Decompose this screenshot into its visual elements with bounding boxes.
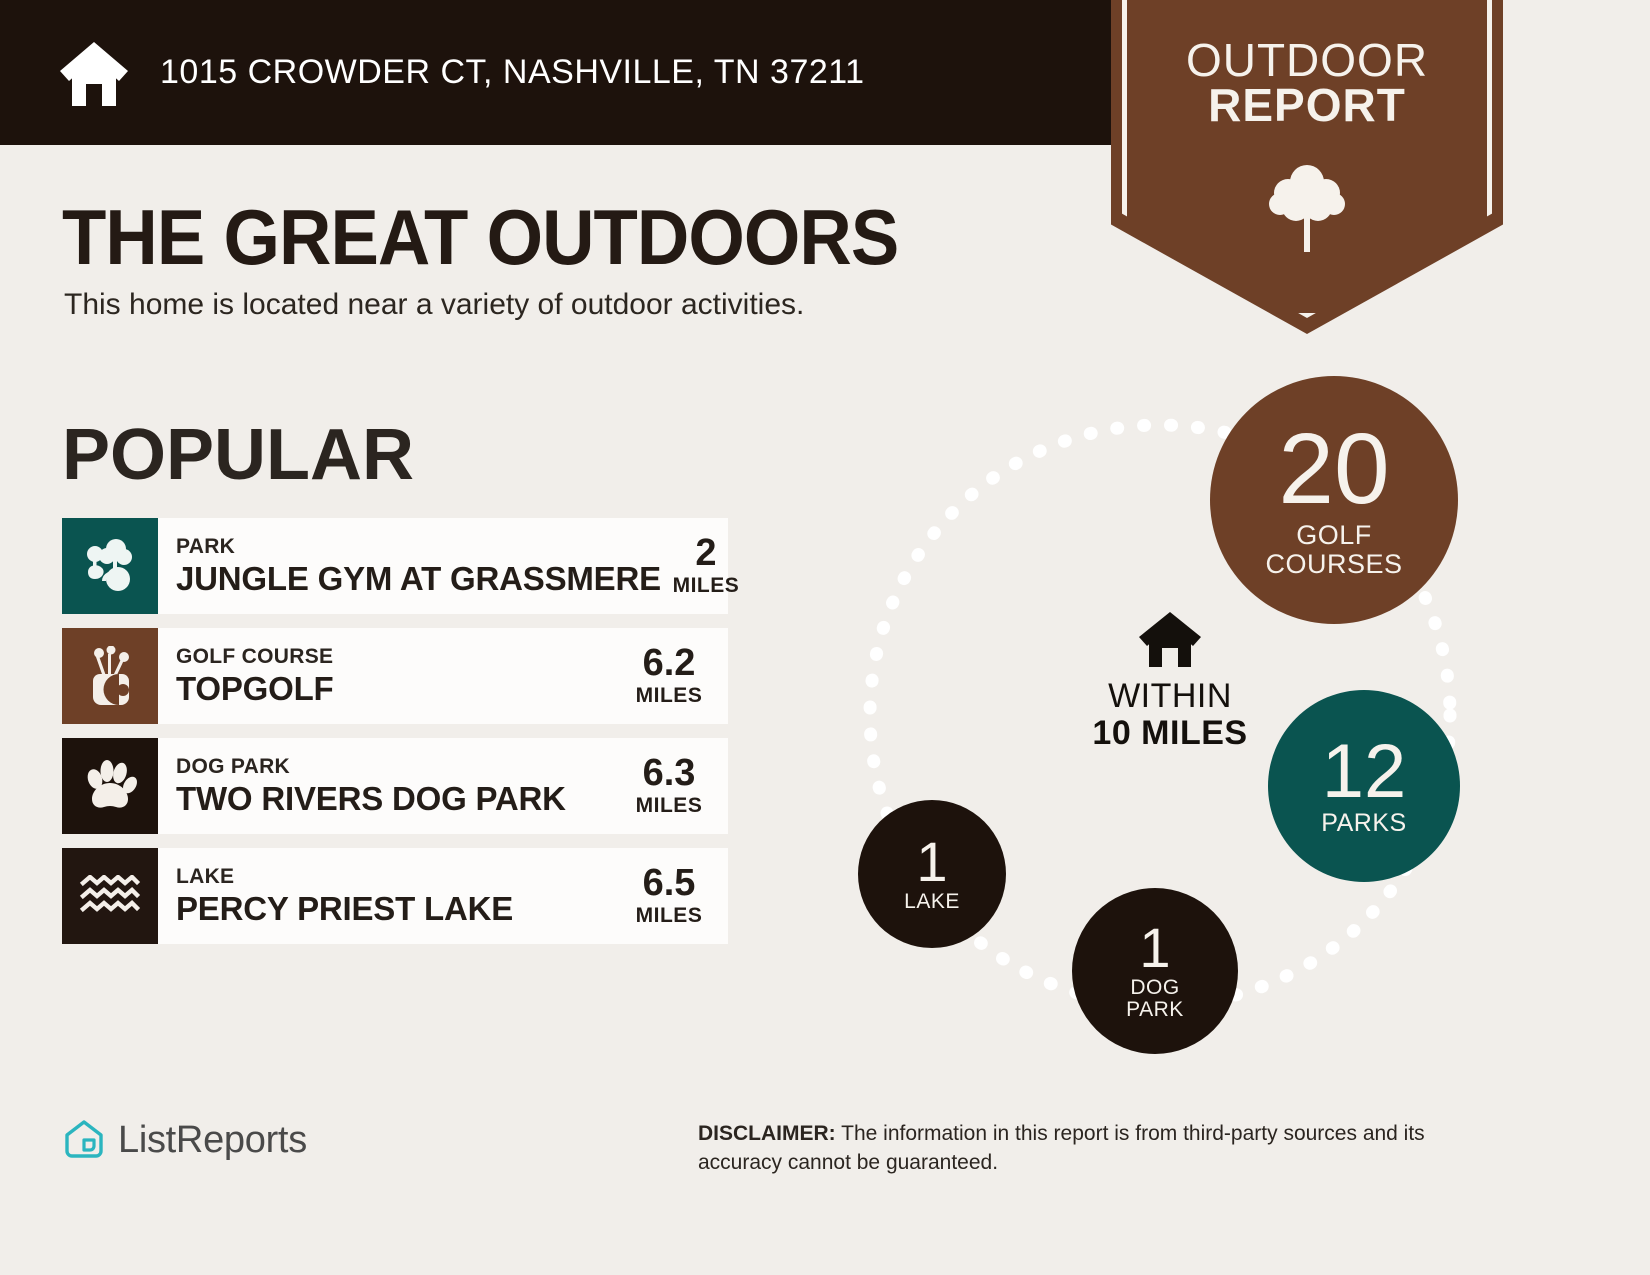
disclaimer-label: DISCLAIMER: <box>698 1122 836 1145</box>
distance-value: 6.2 <box>643 644 696 682</box>
stat-label: PARKS <box>1321 810 1406 836</box>
center-line-2: 10 MILES <box>1030 715 1310 752</box>
stat-label: GOLF COURSES <box>1265 521 1402 578</box>
list-item[interactable]: GOLF COURSE TOPGOLF 6.2 MILES <box>62 628 728 724</box>
stat-circle-lake[interactable]: 1 LAKE <box>858 800 1006 948</box>
list-item-icon-box <box>62 738 158 834</box>
home-icon <box>58 38 130 108</box>
stat-value: 1 <box>916 835 947 888</box>
stat-label-line-2: COURSES <box>1265 550 1402 578</box>
golf-bag-icon <box>83 646 137 706</box>
popular-list: PARK JUNGLE GYM AT GRASSMERE 2 MILES <box>62 518 728 958</box>
list-item-name: PERCY PRIEST LAKE <box>176 890 624 928</box>
distance-unit: MILES <box>636 904 703 928</box>
distance-value: 2 <box>695 534 716 572</box>
header-bar: 1015 CROWDER CT, NASHVILLE, TN 37211 <box>0 0 1195 145</box>
page-title: THE GREAT OUTDOORS <box>62 192 898 283</box>
list-item-category: LAKE <box>176 864 624 889</box>
stat-label-line-2: PARK <box>1126 999 1184 1021</box>
list-item-text: PARK JUNGLE GYM AT GRASSMERE <box>158 518 661 614</box>
list-item-category: PARK <box>176 534 661 559</box>
center-line-1: WITHIN <box>1030 678 1310 715</box>
within-10-miles-diagram: WITHIN 10 MILES 20 GOLF COURSES 12 PARKS… <box>820 360 1520 1060</box>
water-waves-icon <box>79 875 141 917</box>
list-item-text: DOG PARK TWO RIVERS DOG PARK <box>158 738 624 834</box>
list-item-icon-box <box>62 628 158 724</box>
stat-label: LAKE <box>904 891 960 913</box>
stat-circle-golf-courses[interactable]: 20 GOLF COURSES <box>1210 376 1458 624</box>
outdoor-report-page: 1015 CROWDER CT, NASHVILLE, TN 37211 OUT… <box>0 0 1650 1275</box>
distance-value: 6.5 <box>643 864 696 902</box>
list-item-category: GOLF COURSE <box>176 644 624 669</box>
paw-print-icon <box>82 758 138 814</box>
stat-circle-parks[interactable]: 12 PARKS <box>1268 690 1460 882</box>
listreports-house-icon <box>62 1118 106 1162</box>
list-item-distance: 6.3 MILES <box>624 738 728 834</box>
list-item-name: TOPGOLF <box>176 670 624 708</box>
distance-unit: MILES <box>673 574 740 598</box>
list-item-text: LAKE PERCY PRIEST LAKE <box>158 848 624 944</box>
distance-unit: MILES <box>636 684 703 708</box>
stat-label-line-1: GOLF <box>1265 521 1402 549</box>
listreports-logo-text: ListReports <box>118 1119 307 1162</box>
diagram-center-label: WITHIN 10 MILES <box>1030 610 1310 751</box>
stat-label: DOG PARK <box>1126 977 1184 1021</box>
listreports-logo[interactable]: ListReports <box>62 1118 307 1162</box>
badge-line-1: OUTDOOR <box>1122 38 1492 83</box>
list-item-distance: 6.5 MILES <box>624 848 728 944</box>
park-trees-icon <box>80 537 140 595</box>
list-item-distance: 2 MILES <box>661 518 765 614</box>
list-item-icon-box <box>62 518 158 614</box>
disclaimer: DISCLAIMER: The information in this repo… <box>698 1120 1508 1178</box>
distance-value: 6.3 <box>643 754 696 792</box>
badge-line-2: REPORT <box>1122 83 1492 128</box>
list-item-name: TWO RIVERS DOG PARK <box>176 780 624 818</box>
page-subtitle: This home is located near a variety of o… <box>64 288 804 322</box>
stat-circle-dog-park[interactable]: 1 DOG PARK <box>1072 888 1238 1054</box>
stat-value: 1 <box>1139 921 1170 974</box>
stat-value: 12 <box>1322 736 1407 808</box>
list-item[interactable]: DOG PARK TWO RIVERS DOG PARK 6.3 MILES <box>62 738 728 834</box>
list-item-text: GOLF COURSE TOPGOLF <box>158 628 624 724</box>
stat-value: 20 <box>1278 422 1389 517</box>
stat-label-line-1: DOG <box>1126 977 1184 999</box>
property-address: 1015 CROWDER CT, NASHVILLE, TN 37211 <box>160 53 865 92</box>
tree-icon <box>1265 160 1349 256</box>
list-item-icon-box <box>62 848 158 944</box>
list-item-name: JUNGLE GYM AT GRASSMERE <box>176 560 661 598</box>
list-item[interactable]: PARK JUNGLE GYM AT GRASSMERE 2 MILES <box>62 518 728 614</box>
list-item-distance: 6.2 MILES <box>624 628 728 724</box>
home-icon <box>1137 610 1203 668</box>
list-item[interactable]: LAKE PERCY PRIEST LAKE 6.5 MILES <box>62 848 728 944</box>
popular-section-heading: POPULAR <box>62 414 414 496</box>
distance-unit: MILES <box>636 794 703 818</box>
badge-text: OUTDOOR REPORT <box>1122 38 1492 128</box>
list-item-category: DOG PARK <box>176 754 624 779</box>
